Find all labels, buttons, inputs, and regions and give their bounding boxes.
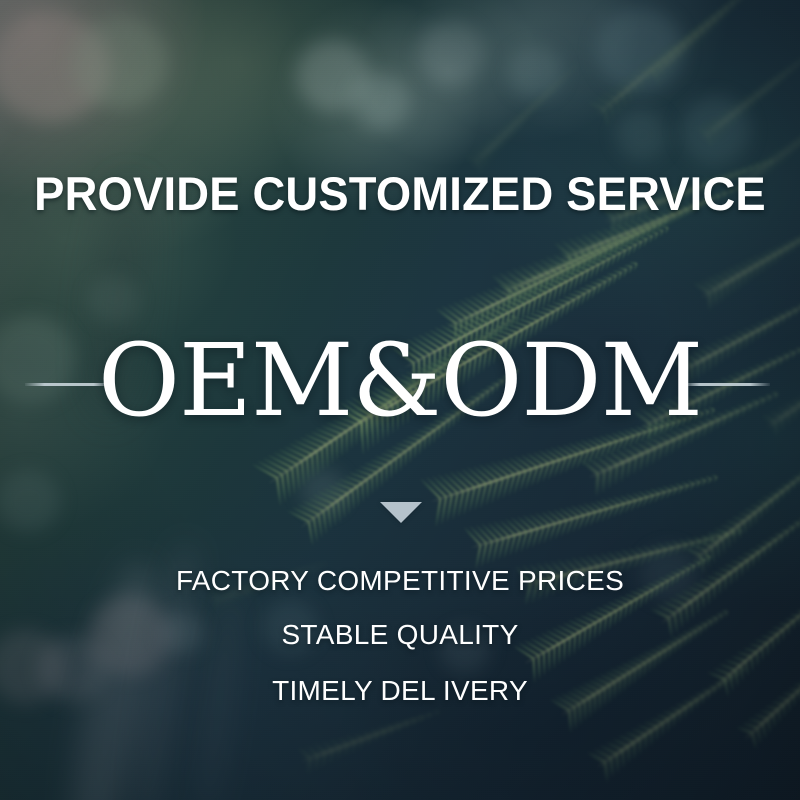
- benefits-list: FACTORY COMPETITIVE PRICES STABLE QUALIT…: [0, 556, 800, 706]
- wordmark-oem-odm: OEM&ODM: [0, 330, 800, 432]
- wordmark-row: OEM&ODM: [0, 330, 800, 438]
- conifer-frond: [457, 51, 590, 181]
- benefit-item: STABLE QUALITY: [0, 620, 800, 650]
- benefit-item: TIMELY DEL IVERY: [0, 676, 800, 706]
- benefit-item: FACTORY COMPETITIVE PRICES: [0, 566, 800, 596]
- promo-banner: PROVIDE CUSTOMIZED SERVICE OEM&ODM FACTO…: [0, 0, 800, 800]
- triangle-down-icon: [380, 502, 422, 523]
- page-title: PROVIDE CUSTOMIZED SERVICE: [14, 166, 786, 221]
